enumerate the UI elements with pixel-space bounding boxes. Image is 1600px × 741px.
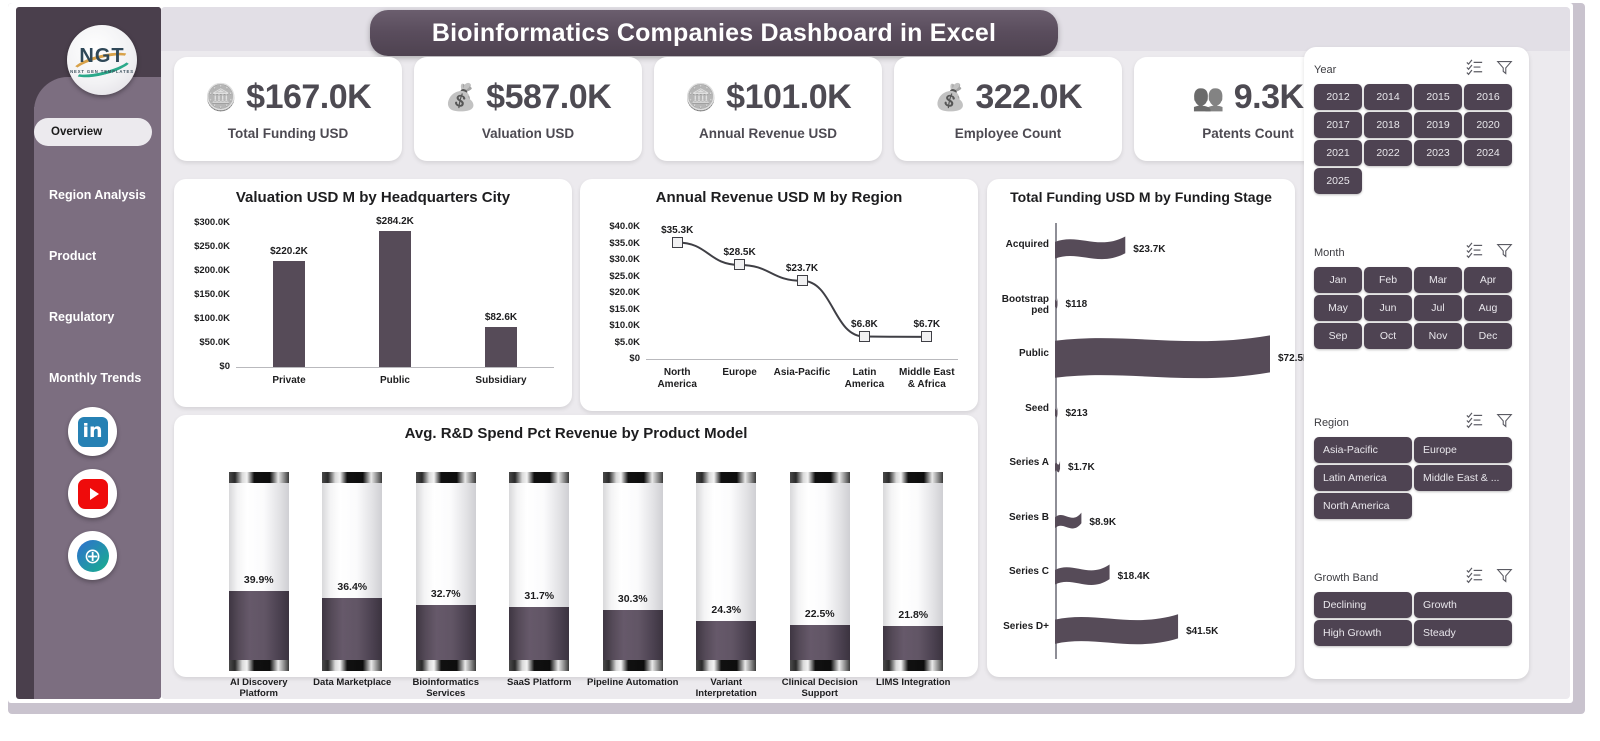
chart-card-revenue-by-region: Annual Revenue USD M by Region $40.0K$35… [580, 179, 978, 411]
globe-icon: ⊕ [77, 540, 109, 572]
slicer-item-dec[interactable]: Dec [1464, 323, 1512, 349]
cylinder-value-label: 36.4% [322, 581, 382, 593]
category-label: Bootstrap ped [989, 294, 1049, 317]
slicer-item-2021[interactable]: 2021 [1314, 140, 1362, 166]
linkedin-icon: in [78, 417, 108, 447]
slicer-items: DecliningGrowthHigh GrowthSteady [1314, 592, 1519, 646]
dashboard-title-banner: Bioinformatics Companies Dashboard in Ex… [370, 10, 1058, 56]
slicer-items: Asia-PacificEuropeLatin AmericaMiddle Ea… [1314, 437, 1519, 519]
kpi-value-row: 👥9.3K [1192, 78, 1303, 117]
x-axis-category-label: SaaS Platform [485, 677, 593, 688]
sidebar-item-monthly-trends[interactable]: Monthly Trends [34, 347, 161, 408]
slicer-item-sep[interactable]: Sep [1314, 323, 1362, 349]
cylinder-body [509, 475, 569, 668]
multi-select-button[interactable] [1466, 59, 1483, 76]
slicer-item-steady[interactable]: Steady [1414, 620, 1512, 646]
slicer-item-2020[interactable]: 2020 [1464, 112, 1512, 138]
cylinder-body [790, 475, 850, 668]
cylinder-value-label: 24.3% [696, 604, 756, 616]
kpi-label: Employee Count [955, 126, 1062, 141]
slicer-item-jul[interactable]: Jul [1414, 295, 1462, 321]
sidebar-item-label: Overview [51, 126, 102, 138]
cylinder-0[interactable]: 39.9% [229, 475, 289, 668]
kpi-card-employee-count: 💰322.0KEmployee Count [894, 57, 1122, 161]
cylinder-bottom-cap-icon [229, 660, 289, 671]
slicer-item-2018[interactable]: 2018 [1364, 112, 1412, 138]
cylinder-5[interactable]: 24.3% [696, 475, 756, 668]
stage-value-label: $118 [1066, 299, 1088, 310]
kpi-value: $587.0K [486, 78, 611, 117]
clear-filter-icon [1496, 567, 1513, 584]
cylinder-body [696, 475, 756, 668]
kpi-value: $101.0K [726, 78, 851, 117]
slicer-item-middle-east[interactable]: Middle East & ... [1414, 465, 1512, 491]
website-button[interactable]: ⊕ [68, 531, 117, 580]
category-label: Series A [989, 457, 1049, 469]
slicer-item-2015[interactable]: 2015 [1414, 84, 1462, 110]
slicer-item-feb[interactable]: Feb [1364, 267, 1412, 293]
slicer-item-declining[interactable]: Declining [1314, 592, 1412, 618]
category-label: Series C [989, 566, 1049, 578]
slicer-item-jun[interactable]: Jun [1364, 295, 1412, 321]
bottom-margin [0, 718, 1600, 741]
stage-value-label: $23.7K [1133, 244, 1165, 255]
slicer-item-2024[interactable]: 2024 [1464, 140, 1512, 166]
slicer-item-asia-pacific[interactable]: Asia-Pacific [1314, 437, 1412, 463]
slicer-title: Month [1314, 247, 1345, 259]
x-axis-category-label: Private [243, 375, 335, 387]
x-axis-line [236, 367, 554, 368]
slicer-item-mar[interactable]: Mar [1414, 267, 1462, 293]
kpi-value-row: 🪙$167.0K [205, 78, 371, 117]
x-axis-category-label: Bioinformatics Services [392, 677, 500, 700]
kpi-label: Total Funding USD [228, 126, 348, 141]
cylinder-3[interactable]: 31.7% [509, 475, 569, 668]
kpi-value-row: 💰322.0K [934, 78, 1082, 117]
sidebar-item-label: Region Analysis [49, 188, 146, 202]
cylinder-top-cap-icon [416, 472, 476, 483]
slicer-item-high-growth[interactable]: High Growth [1314, 620, 1412, 646]
slicer-items: JanFebMarAprMayJunJulAugSepOctNovDec [1314, 267, 1519, 349]
cylinder-top-cap-icon [322, 472, 382, 483]
slicer-item-apr[interactable]: Apr [1464, 267, 1512, 293]
cylinder-fill [229, 591, 289, 668]
sidebar-item-label: Monthly Trends [49, 371, 141, 385]
slicer-item-aug[interactable]: Aug [1464, 295, 1512, 321]
funnel-chart-plot[interactable]: Acquired$23.7KBootstrap ped$118Public$72… [987, 179, 1295, 677]
x-axis-category-label: Public [349, 375, 441, 387]
youtube-icon [78, 479, 108, 509]
cylinder-bottom-cap-icon [416, 660, 476, 671]
slicer-item-growth[interactable]: Growth [1414, 592, 1512, 618]
multi-select-button[interactable] [1466, 567, 1483, 584]
x-axis-category-label: North America [643, 367, 711, 390]
data-point-marker[interactable] [734, 259, 745, 270]
slicer-header-icons [1466, 567, 1513, 584]
bar-private[interactable] [273, 261, 305, 367]
sidebar: NGT NEXT GEN TEMPLATES Overview Region A… [16, 7, 161, 699]
slicer-header: Year [1314, 59, 1519, 81]
slicer-header: Region [1314, 412, 1519, 434]
cylinder-fill [509, 607, 569, 668]
point-value-label: $23.7K [774, 263, 830, 274]
clear-filter-button[interactable] [1496, 59, 1513, 76]
category-label: Series D+ [989, 621, 1049, 633]
cylinder-top-cap-icon [603, 472, 663, 483]
sidebar-item-regulatory[interactable]: Regulatory [34, 286, 161, 347]
social-links: in ⊕ [68, 407, 117, 580]
x-axis-category-label: Pipeline Automation [579, 677, 687, 688]
cylinder-6[interactable]: 22.5% [790, 475, 850, 668]
slicer-item-2019[interactable]: 2019 [1414, 112, 1462, 138]
cylinder-bottom-cap-icon [322, 660, 382, 671]
cylinder-4[interactable]: 30.3% [603, 475, 663, 668]
x-axis-category-label: Clinical Decision Support [766, 677, 874, 700]
slicer-panel: Year201220142015201620172018201920202021… [1304, 47, 1529, 679]
cylinder-body [322, 475, 382, 668]
slicer-region: RegionAsia-PacificEuropeLatin AmericaMid… [1314, 412, 1519, 519]
kpi-value: 322.0K [975, 78, 1082, 117]
slicer-growth-band: Growth BandDecliningGrowthHigh GrowthSte… [1314, 567, 1519, 646]
linkedin-button[interactable]: in [68, 407, 117, 456]
multi-select-icon [1466, 412, 1483, 429]
x-axis-category-label: LIMS Integration [859, 677, 967, 688]
stage-value-label: $8.9K [1089, 517, 1116, 528]
x-axis-category-label: Subsidiary [455, 375, 547, 387]
cylinder-bottom-cap-icon [696, 660, 756, 671]
clear-filter-button[interactable] [1496, 412, 1513, 429]
slicer-title: Growth Band [1314, 572, 1378, 584]
youtube-button[interactable] [68, 469, 117, 518]
cylinder-1[interactable]: 36.4% [322, 475, 382, 668]
dashboard-stage: Bioinformatics Companies Dashboard in Ex… [161, 7, 1570, 699]
slicer-item-may[interactable]: May [1314, 295, 1362, 321]
chart-card-funding-by-stage: Total Funding USD M by Funding Stage Acq… [987, 179, 1295, 677]
kpi-value-row: 🪙$101.0K [685, 78, 851, 117]
x-axis-category-label: Middle East & Africa [893, 367, 961, 390]
cylinder-body [883, 475, 943, 668]
workbook-canvas: NGT NEXT GEN TEMPLATES Overview Region A… [8, 3, 1585, 714]
bar-value-label: $284.2K [367, 216, 423, 227]
point-value-label: $6.7K [899, 319, 955, 330]
right-margin [1586, 0, 1600, 741]
cylinder-chart-plot[interactable]: 39.9%AI Discovery Platform36.4%Data Mark… [174, 415, 978, 677]
stage-value-label: $213 [1066, 408, 1088, 419]
slicer-header-icons [1466, 59, 1513, 76]
slicer-item-oct[interactable]: Oct [1364, 323, 1412, 349]
x-axis-category-label: Asia-Pacific [768, 367, 836, 379]
cylinder-top-cap-icon [509, 472, 569, 483]
kpi-value: $167.0K [246, 78, 371, 117]
nav-spacer [34, 146, 161, 164]
sidebar-item-label: Product [49, 249, 96, 263]
clear-filter-icon [1496, 59, 1513, 76]
point-value-label: $28.5K [712, 247, 768, 258]
point-value-label: $35.3K [649, 225, 705, 236]
logo-tagline: NEXT GEN TEMPLATES [70, 69, 134, 74]
cylinder-bottom-cap-icon [883, 660, 943, 671]
slicer-title: Year [1314, 64, 1336, 76]
stage-value-label: $1.7K [1068, 462, 1095, 473]
cylinder-value-label: 32.7% [416, 588, 476, 600]
clear-filter-icon [1496, 412, 1513, 429]
slicer-item-2014[interactable]: 2014 [1364, 84, 1412, 110]
cylinder-7[interactable]: 21.8% [883, 475, 943, 668]
slicer-item-2025[interactable]: 2025 [1314, 168, 1362, 194]
x-axis-category-label: Variant Interpretation [672, 677, 780, 700]
page-title: Bioinformatics Companies Dashboard in Ex… [432, 19, 996, 48]
coins-icon: 🪙 [685, 84, 717, 110]
cylinder-bottom-cap-icon [509, 660, 569, 671]
kpi-label: Annual Revenue USD [699, 126, 837, 141]
slicer-header-icons [1466, 412, 1513, 429]
cylinder-bottom-cap-icon [603, 660, 663, 671]
data-point-marker[interactable] [797, 275, 808, 286]
slicer-item-nov[interactable]: Nov [1414, 323, 1462, 349]
x-axis-category-label: AI Discovery Platform [205, 677, 313, 700]
slicer-title: Region [1314, 417, 1349, 429]
y-axis-tick: $300.0K [180, 217, 230, 228]
kpi-card-valuation-usd: 💰$587.0KValuation USD [414, 57, 642, 161]
cylinder-fill [322, 598, 382, 668]
y-axis-tick: $150.0K [180, 289, 230, 300]
x-axis-category-label: Latin America [830, 367, 898, 390]
y-axis-tick: $0 [180, 361, 230, 372]
category-label: Public [989, 348, 1049, 360]
clear-filter-button[interactable] [1496, 242, 1513, 259]
kpi-value: 9.3K [1234, 78, 1304, 117]
kpi-row: 🪙$167.0KTotal Funding USD💰$587.0KValuati… [174, 57, 1362, 161]
slicer-item-2023[interactable]: 2023 [1414, 140, 1462, 166]
cylinder-top-cap-icon [229, 472, 289, 483]
cylinder-value-label: 31.7% [509, 590, 569, 602]
cylinder-value-label: 22.5% [790, 608, 850, 620]
money-bag-icon: 💰 [934, 84, 966, 110]
bar-value-label: $82.6K [473, 312, 529, 323]
bar-public[interactable] [379, 231, 411, 367]
sidebar-item-label: Regulatory [49, 310, 114, 324]
cylinder-value-label: 21.8% [883, 609, 943, 621]
stage-value-label: $18.4K [1118, 571, 1150, 582]
kpi-label: Patents Count [1202, 126, 1294, 141]
slicer-item-2017[interactable]: 2017 [1314, 112, 1362, 138]
y-axis-tick: $200.0K [180, 265, 230, 276]
slicer-month: MonthJanFebMarAprMayJunJulAugSepOctNovDe… [1314, 242, 1519, 349]
sidebar-nav: Overview Region Analysis Product Regulat… [34, 115, 161, 408]
sidebar-item-product[interactable]: Product [34, 225, 161, 286]
slicer-item-2012[interactable]: 2012 [1314, 84, 1362, 110]
kpi-value-row: 💰$587.0K [445, 78, 611, 117]
stage-value-label: $41.5K [1186, 626, 1218, 637]
chart-card-rnd-spend: Avg. R&D Spend Pct Revenue by Product Mo… [174, 415, 978, 677]
coins-icon: 🪙 [205, 84, 237, 110]
slicer-item-latin-america[interactable]: Latin America [1314, 465, 1412, 491]
cylinder-value-label: 39.9% [229, 574, 289, 586]
kpi-card-total-funding-usd: 🪙$167.0KTotal Funding USD [174, 57, 402, 161]
cylinder-body [229, 475, 289, 668]
category-label: Acquired [989, 239, 1049, 251]
clear-filter-button[interactable] [1496, 567, 1513, 584]
slicer-items: 2012201420152016201720182019202020212022… [1314, 84, 1519, 194]
bar-value-label: $220.2K [261, 246, 317, 257]
x-axis-category-label: Europe [706, 367, 774, 379]
sidebar-item-overview[interactable]: Overview [34, 118, 152, 146]
cylinder-value-label: 30.3% [603, 593, 663, 605]
data-point-marker[interactable] [859, 331, 870, 342]
slicer-item-north-america[interactable]: North America [1314, 493, 1412, 519]
y-axis-tick: $250.0K [180, 241, 230, 252]
dashboard-root: NGT NEXT GEN TEMPLATES Overview Region A… [0, 0, 1600, 741]
bar-subsidiary[interactable] [485, 327, 517, 367]
cylinder-body [416, 475, 476, 668]
cylinder-2[interactable]: 32.7% [416, 475, 476, 668]
category-label: Series B [989, 512, 1049, 524]
x-axis-category-label: Data Marketplace [298, 677, 406, 688]
cylinder-top-cap-icon [883, 472, 943, 483]
ngt-logo: NGT NEXT GEN TEMPLATES [67, 25, 137, 95]
slicer-year: Year201220142015201620172018201920202021… [1314, 59, 1519, 194]
multi-select-button[interactable] [1466, 242, 1483, 259]
data-point-marker[interactable] [921, 331, 932, 342]
money-bag-icon: 💰 [445, 84, 477, 110]
cylinder-fill [416, 605, 476, 668]
line-chart-plot[interactable]: $40.0K$35.0K$30.0K$25.0K$20.0K$15.0K$10.… [580, 179, 978, 411]
cylinder-body [603, 475, 663, 668]
cylinder-top-cap-icon [696, 472, 756, 483]
multi-select-icon [1466, 567, 1483, 584]
sidebar-item-region-analysis[interactable]: Region Analysis [34, 164, 161, 225]
multi-select-icon [1466, 242, 1483, 259]
point-value-label: $6.8K [836, 319, 892, 330]
multi-select-button[interactable] [1466, 412, 1483, 429]
data-point-marker[interactable] [672, 237, 683, 248]
y-axis-tick: $100.0K [180, 313, 230, 324]
slicer-item-2022[interactable]: 2022 [1364, 140, 1412, 166]
logo-wordmark: NGT [79, 46, 124, 66]
people-icon: 👥 [1192, 84, 1224, 110]
slicer-item-2016[interactable]: 2016 [1464, 84, 1512, 110]
slicer-header-icons [1466, 242, 1513, 259]
bar-chart-plot[interactable]: $300.0K$250.0K$200.0K$150.0K$100.0K$50.0… [174, 179, 572, 407]
cylinder-top-cap-icon [790, 472, 850, 483]
slicer-item-europe[interactable]: Europe [1414, 437, 1512, 463]
slicer-item-jan[interactable]: Jan [1314, 267, 1362, 293]
slicer-header: Growth Band [1314, 567, 1519, 589]
clear-filter-icon [1496, 242, 1513, 259]
slicer-header: Month [1314, 242, 1519, 264]
cylinder-bottom-cap-icon [790, 660, 850, 671]
chart-card-valuation-by-hq: Valuation USD M by Headquarters City $30… [174, 179, 572, 407]
category-label: Seed [989, 403, 1049, 415]
kpi-card-annual-revenue-usd: 🪙$101.0KAnnual Revenue USD [654, 57, 882, 161]
y-axis-tick: $50.0K [180, 337, 230, 348]
kpi-label: Valuation USD [482, 126, 574, 141]
multi-select-icon [1466, 59, 1483, 76]
